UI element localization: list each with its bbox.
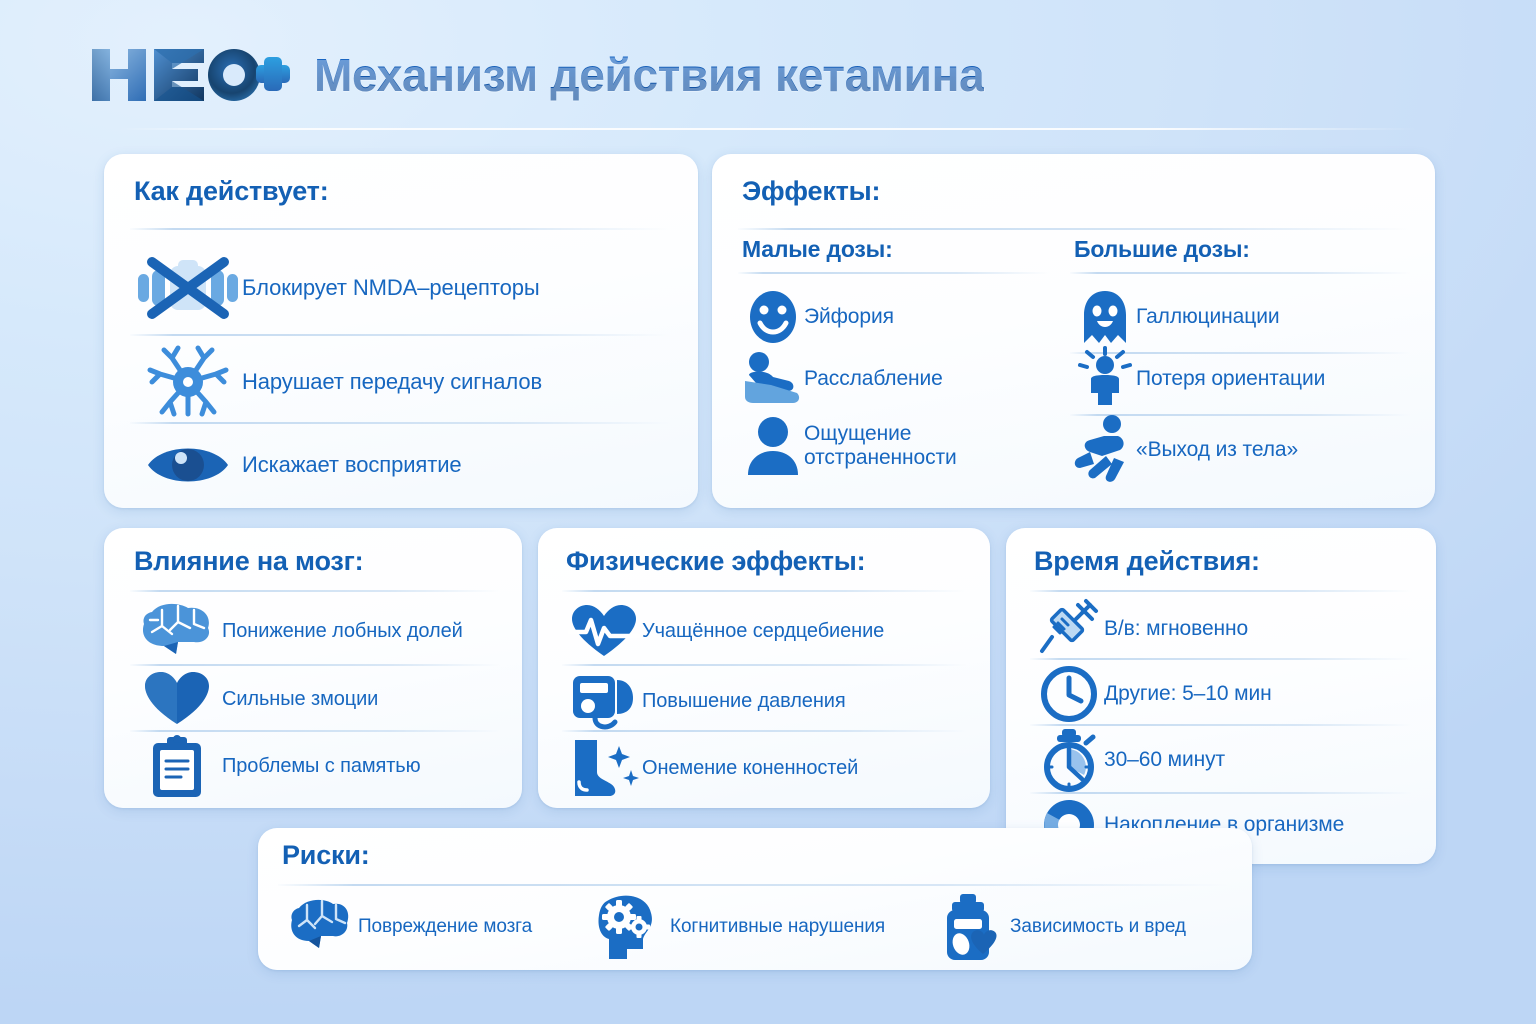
list-item-label: «Выход из тела»	[1136, 438, 1298, 462]
neo-plus-logo	[88, 43, 288, 107]
list-item-label: Сильные змоции	[222, 688, 378, 711]
list-item-label: Нарушает передачу сигналов	[242, 369, 542, 394]
heart-pulse-icon	[566, 604, 642, 658]
heart-icon	[132, 671, 222, 727]
list-item[interactable]: Потеря ориентации	[1074, 348, 1424, 410]
list-item-label: Проблемы с памятью	[222, 755, 421, 778]
card-title-effects: Эффекты:	[742, 176, 880, 207]
card-effects: Эффекты: Малые дозы: Эйфория	[712, 154, 1435, 508]
header: Механизм действия кетамина	[88, 34, 984, 116]
list-item-label: Блокирует NMDA–рецепторы	[242, 275, 540, 300]
page-title: Механизм действия кетамина	[314, 48, 984, 102]
list-item-label: В/в: мгновенно	[1104, 617, 1248, 641]
card-title-how-it-works: Как действует:	[134, 176, 329, 207]
syringe-icon	[1034, 599, 1104, 659]
list-item[interactable]: Понижение лобных долей	[132, 600, 512, 662]
list-item-label: Онемение коненностей	[642, 757, 858, 780]
list-item-label: Когнитивные нарушения	[670, 916, 885, 938]
list-item[interactable]: 30–60 минут	[1034, 728, 1434, 792]
card-title-duration: Время действия:	[1034, 546, 1260, 577]
person-bust-icon	[742, 415, 804, 477]
list-item[interactable]: Сильные змоции	[132, 670, 512, 728]
list-item[interactable]: Зависимость и вред	[934, 890, 1234, 964]
list-item-label: Эйфория	[804, 305, 894, 329]
infographic-root: Механизм действия кетамина Как действует…	[0, 0, 1536, 1024]
divider	[278, 884, 1228, 886]
divider	[130, 422, 670, 424]
card-title-physical-effects: Физические эффекты:	[566, 546, 865, 577]
header-divider	[118, 128, 1418, 130]
list-item[interactable]: Повреждение мозга	[282, 890, 582, 964]
subtitle-low-dose: Малые дозы:	[742, 236, 893, 263]
list-item-label: 30–60 минут	[1104, 748, 1225, 772]
list-item[interactable]: Проблемы с памятью	[132, 734, 512, 798]
pill-bottle-icon	[934, 894, 1010, 960]
list-item[interactable]: «Выход из тела»	[1070, 412, 1420, 488]
list-item-label: Расслабление	[804, 367, 943, 391]
divider	[738, 272, 1050, 274]
list-item-label: Искажает восприятие	[242, 452, 462, 477]
list-item[interactable]: Другие: 5–10 мин	[1034, 664, 1434, 724]
list-item-label: Ощущение отстраненности	[804, 422, 957, 470]
person-reclining-icon	[742, 351, 804, 407]
list-item[interactable]: Эйфория	[742, 286, 1062, 348]
divider	[562, 730, 966, 732]
card-duration: Время действия: В/в:	[1006, 528, 1436, 864]
ghost-icon	[1074, 289, 1136, 345]
boot-numbness-icon	[566, 738, 642, 798]
list-item[interactable]: Когнитивные нарушения	[588, 890, 928, 964]
card-physical-effects: Физические эффекты: Учащённое сердцебиен…	[538, 528, 990, 808]
card-risks: Риски: Повреждение мозга	[258, 828, 1252, 970]
floating-person-icon	[1070, 414, 1136, 486]
list-item-label: Повреждение мозга	[358, 916, 532, 938]
divider	[130, 590, 500, 592]
card-title-brain-impact: Влияние на мозг:	[134, 546, 363, 577]
neo-plus-logo-icon	[88, 43, 288, 107]
stopwatch-icon	[1034, 729, 1104, 791]
confused-person-icon	[1074, 351, 1136, 407]
subtitle-high-dose: Большие дозы:	[1074, 236, 1250, 263]
brain-icon	[132, 602, 222, 660]
list-item[interactable]: Искажает восприятие	[134, 430, 674, 500]
card-brain-impact: Влияние на мозг: Понижение лобных долей	[104, 528, 522, 808]
divider	[562, 664, 966, 666]
brain-damage-icon	[282, 898, 358, 956]
divider	[1070, 272, 1410, 274]
divider	[130, 334, 670, 336]
divider	[130, 664, 500, 666]
neuron-icon	[134, 344, 242, 420]
card-title-risks: Риски:	[282, 840, 370, 871]
list-item[interactable]: Блокирует NMDA–рецепторы	[134, 246, 674, 330]
head-gears-icon	[588, 893, 670, 961]
list-item[interactable]: Ощущение отстраненности	[742, 408, 1062, 484]
list-item[interactable]: Повышение давления	[566, 670, 986, 732]
divider	[130, 228, 670, 230]
divider	[738, 228, 1410, 230]
blood-pressure-monitor-icon	[566, 670, 642, 732]
divider	[1030, 658, 1412, 660]
list-item[interactable]: Расслабление	[742, 348, 1062, 410]
divider	[1030, 724, 1412, 726]
card-how-it-works: Как действует: Блокирует NMDA–рецепторы	[104, 154, 698, 508]
list-item-label: Зависимость и вред	[1010, 916, 1186, 938]
list-item-label: Другие: 5–10 мин	[1104, 682, 1272, 706]
list-item-label: Понижение лобных долей	[222, 620, 463, 643]
list-item[interactable]: Онемение коненностей	[566, 736, 986, 800]
list-item[interactable]: Нарушает передачу сигналов	[134, 340, 674, 424]
list-item-label: Галлюцинации	[1136, 305, 1279, 329]
divider	[1030, 590, 1412, 592]
divider	[130, 730, 500, 732]
list-item[interactable]: Галлюцинации	[1074, 286, 1424, 348]
list-item[interactable]: Учащённое сердцебиение	[566, 600, 986, 662]
divider	[562, 590, 966, 592]
list-item-label: Повышение давления	[642, 690, 846, 713]
clock-icon	[1034, 666, 1104, 722]
eye-icon	[134, 439, 242, 491]
clipboard-icon	[132, 735, 222, 797]
list-item-label: Потеря ориентации	[1136, 367, 1325, 391]
list-item-label: Учащённое сердцебиение	[642, 620, 884, 643]
smiley-face-icon	[742, 290, 804, 344]
list-item[interactable]: В/в: мгновенно	[1034, 598, 1434, 660]
blocked-receptor-icon	[134, 258, 242, 318]
